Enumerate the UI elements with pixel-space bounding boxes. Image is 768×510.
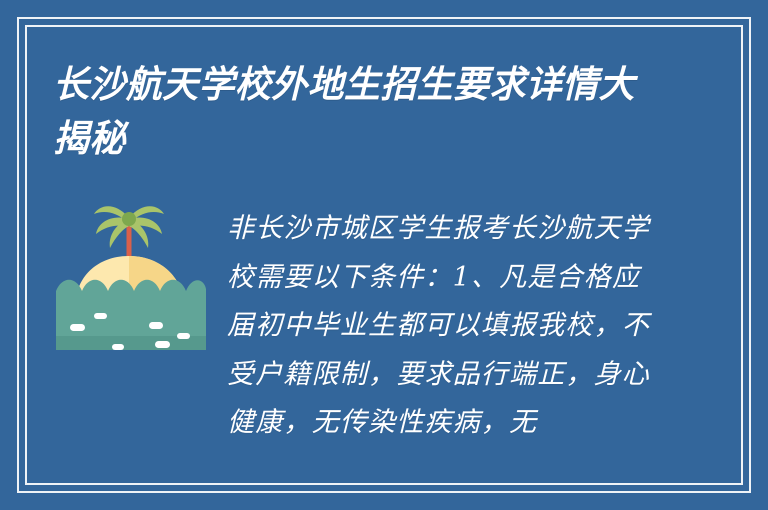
island-illustration — [56, 196, 206, 350]
article-body-text: 非长沙市城区学生报考长沙航天学校需要以下条件：1、凡是合格应届初中毕业生都可以填… — [227, 205, 659, 448]
page-title: 长沙航天学校外地生招生要求详情大揭秘 — [53, 58, 654, 166]
sea-water — [56, 280, 206, 350]
article-cover-card: 长沙航天学校外地生招生要求详情大揭秘 — [0, 0, 768, 510]
